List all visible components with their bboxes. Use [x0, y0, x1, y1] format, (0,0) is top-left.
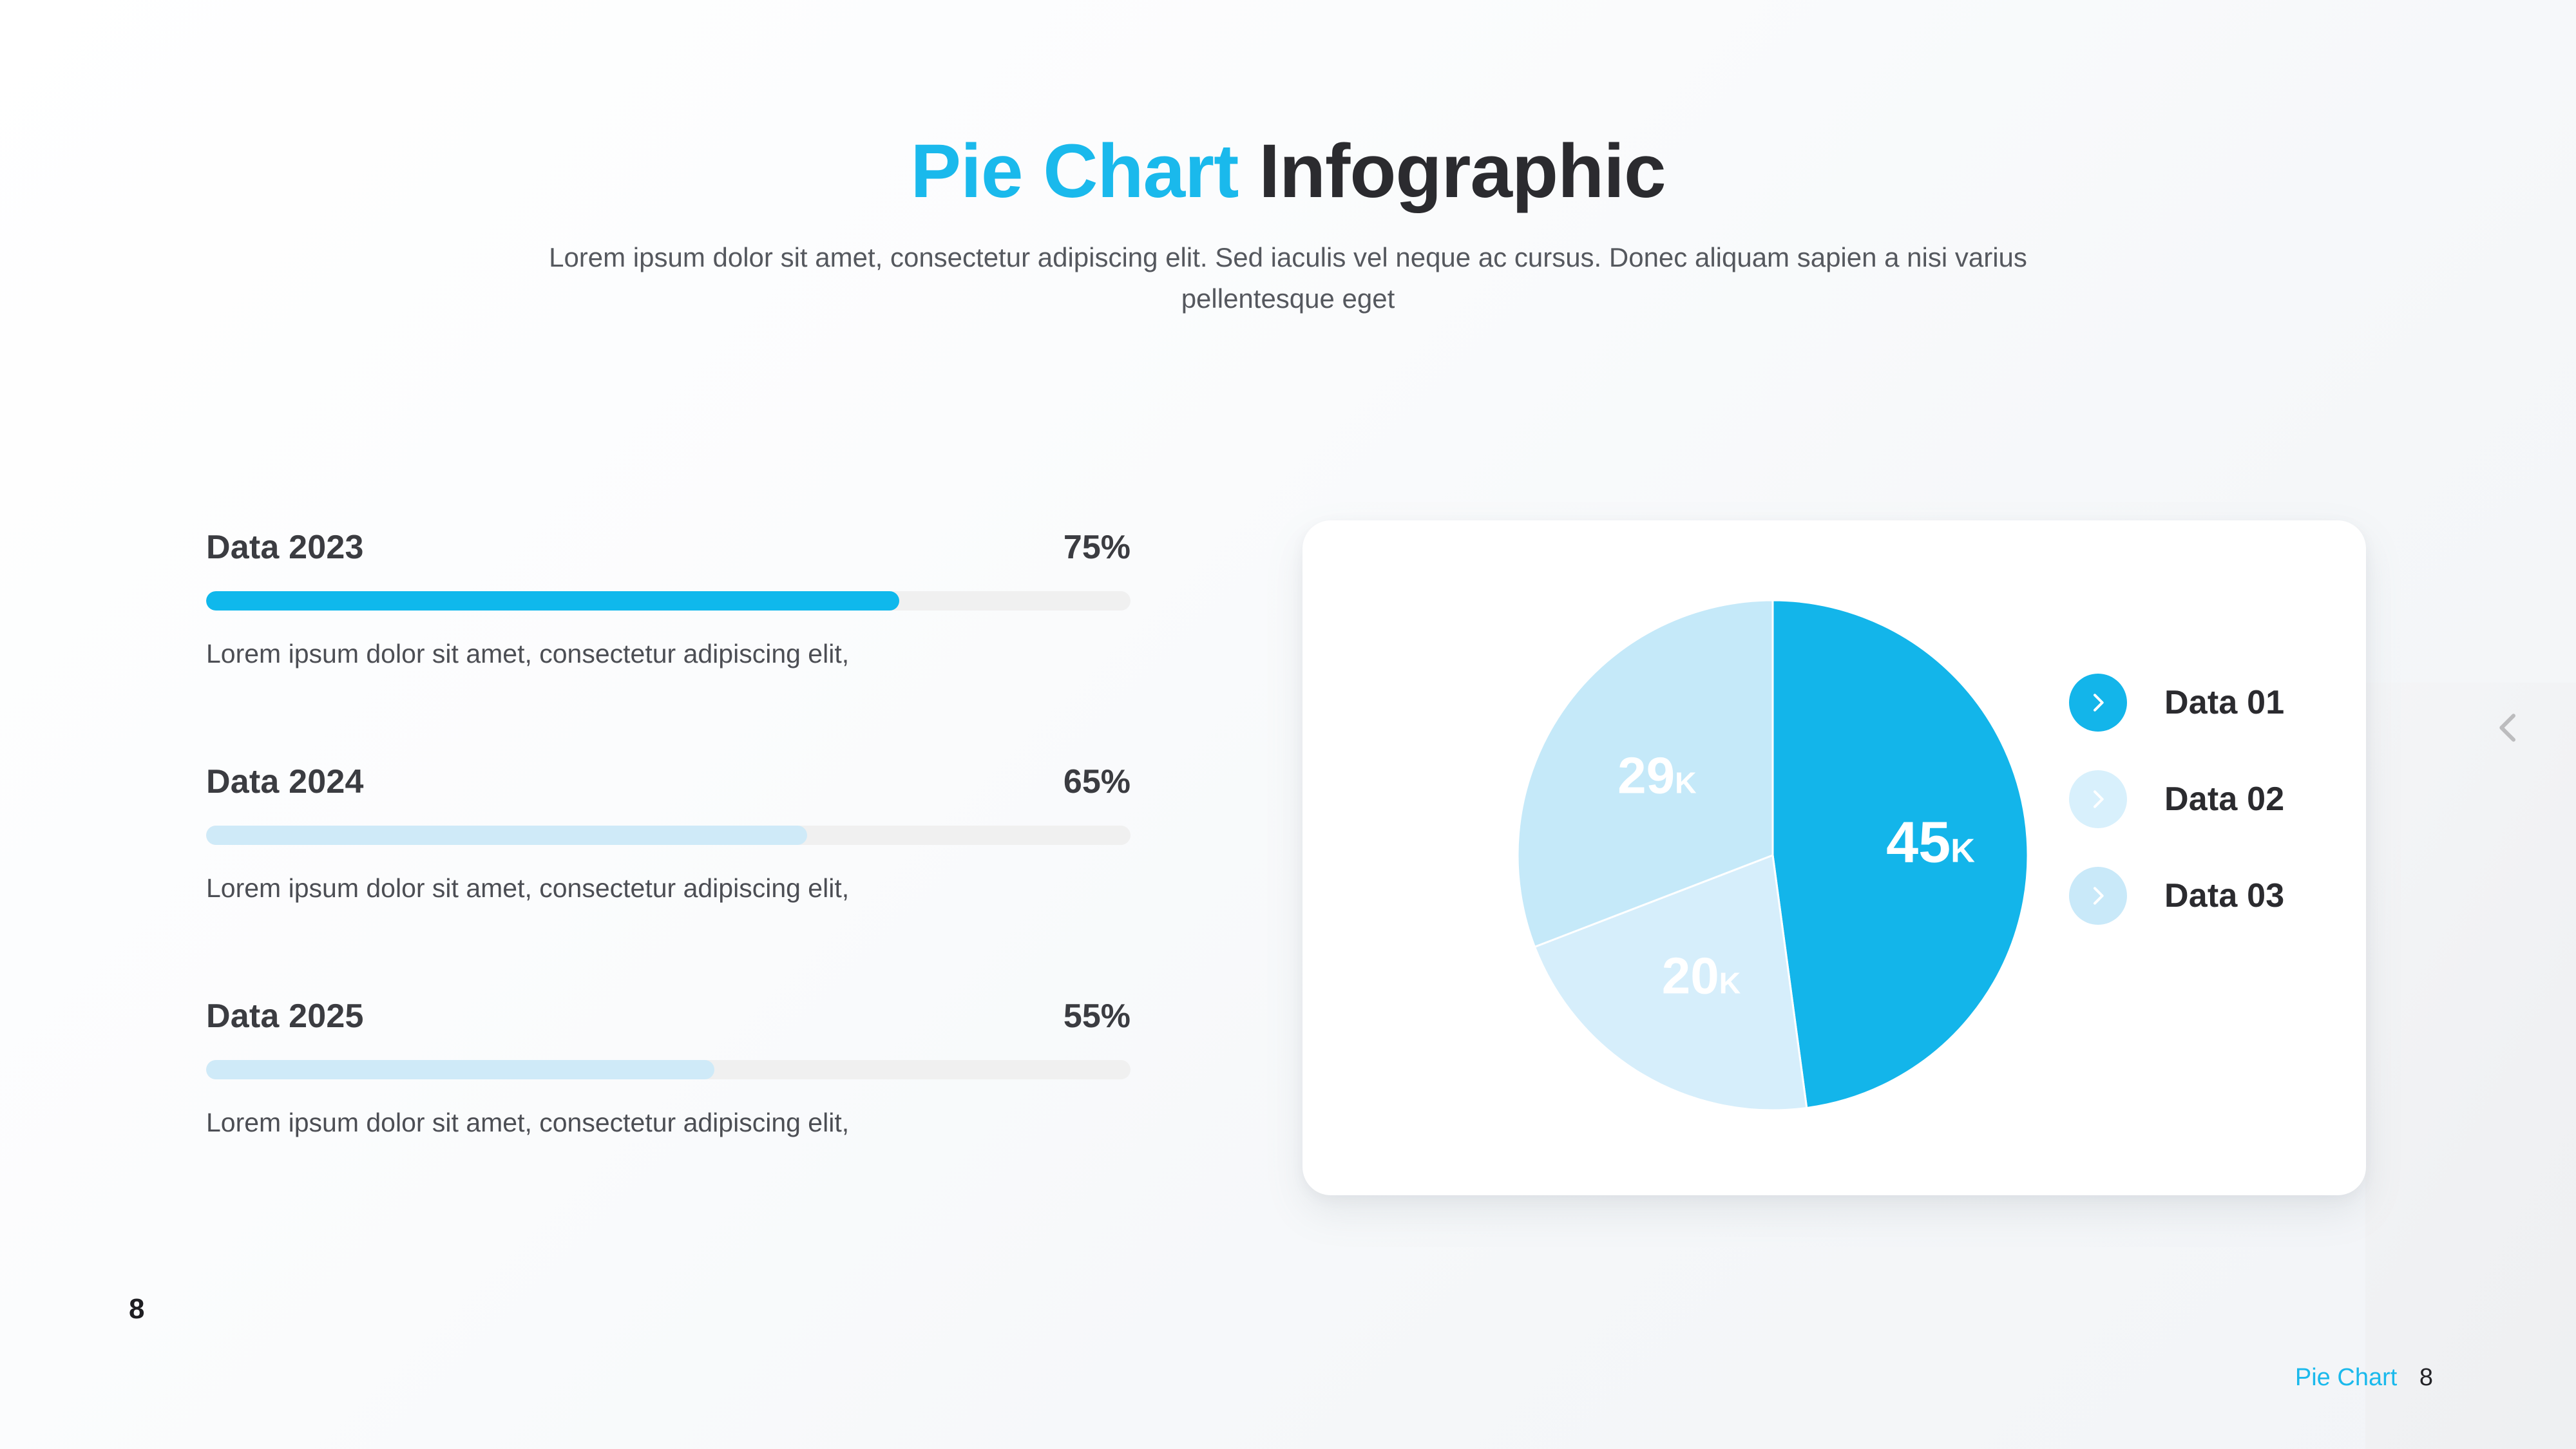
page-subtitle: Lorem ipsum dolor sit amet, consectetur …	[541, 237, 2036, 319]
pie-chart-svg: 45K20K29K	[1515, 598, 2030, 1113]
legend-item[interactable]: Data 02	[2069, 770, 2346, 828]
legend-bullet	[2069, 674, 2127, 732]
chevron-right-icon	[2085, 786, 2111, 812]
progress-description: Lorem ipsum dolor sit amet, consectetur …	[206, 873, 1131, 904]
chart-legend: Data 01 Data 02 Data 03	[2069, 674, 2346, 925]
progress-description: Lorem ipsum dolor sit amet, consectetur …	[206, 1108, 1131, 1138]
progress-value: 65%	[1064, 762, 1131, 801]
footer-section-label: Pie Chart	[2295, 1364, 2397, 1391]
chevron-right-icon	[2085, 883, 2111, 909]
progress-header: Data 2023 75%	[206, 528, 1131, 567]
progress-description: Lorem ipsum dolor sit amet, consectetur …	[206, 639, 1131, 669]
legend-label: Data 03	[2164, 876, 2284, 915]
legend-bullet	[2069, 770, 2127, 828]
legend-label: Data 01	[2164, 683, 2284, 722]
slide-header: Pie Chart Infographic Lorem ipsum dolor …	[0, 129, 2576, 319]
prev-slide-button[interactable]	[2486, 705, 2532, 750]
page-title: Pie Chart Infographic	[0, 129, 2576, 214]
legend-item[interactable]: Data 01	[2069, 674, 2346, 732]
progress-fill	[206, 591, 899, 611]
pie-chart-card: 45K20K29K Data 01 Data 02	[1302, 520, 2366, 1195]
legend-label: Data 02	[2164, 780, 2284, 819]
progress-value: 75%	[1064, 528, 1131, 567]
progress-track[interactable]	[206, 1060, 1131, 1079]
progress-header: Data 2025 55%	[206, 997, 1131, 1036]
legend-item[interactable]: Data 03	[2069, 867, 2346, 925]
progress-value: 55%	[1064, 997, 1131, 1036]
progress-label: Data 2025	[206, 997, 364, 1036]
footer-page-number: 8	[2419, 1364, 2433, 1391]
progress-header: Data 2024 65%	[206, 762, 1131, 801]
chevron-right-icon	[2085, 690, 2111, 715]
progress-item: Data 2024 65% Lorem ipsum dolor sit amet…	[206, 762, 1131, 904]
progress-label: Data 2024	[206, 762, 364, 801]
progress-track[interactable]	[206, 591, 1131, 611]
adjacent-slide-panel	[2365, 683, 2576, 1449]
progress-fill	[206, 1060, 714, 1079]
progress-track[interactable]	[206, 826, 1131, 845]
progress-fill	[206, 826, 807, 845]
progress-item: Data 2025 55% Lorem ipsum dolor sit amet…	[206, 997, 1131, 1138]
legend-bullet	[2069, 867, 2127, 925]
progress-label: Data 2023	[206, 528, 364, 567]
page-title-rest: Infographic	[1238, 129, 1665, 214]
progress-item: Data 2023 75% Lorem ipsum dolor sit amet…	[206, 528, 1131, 669]
pie-chart: 45K20K29K	[1515, 598, 2030, 1113]
page-title-accent: Pie Chart	[910, 129, 1238, 214]
chevron-left-icon	[2491, 710, 2527, 746]
page-number: 8	[129, 1293, 144, 1325]
footer: Pie Chart 8	[2295, 1364, 2433, 1392]
progress-list: Data 2023 75% Lorem ipsum dolor sit amet…	[206, 528, 1131, 1138]
